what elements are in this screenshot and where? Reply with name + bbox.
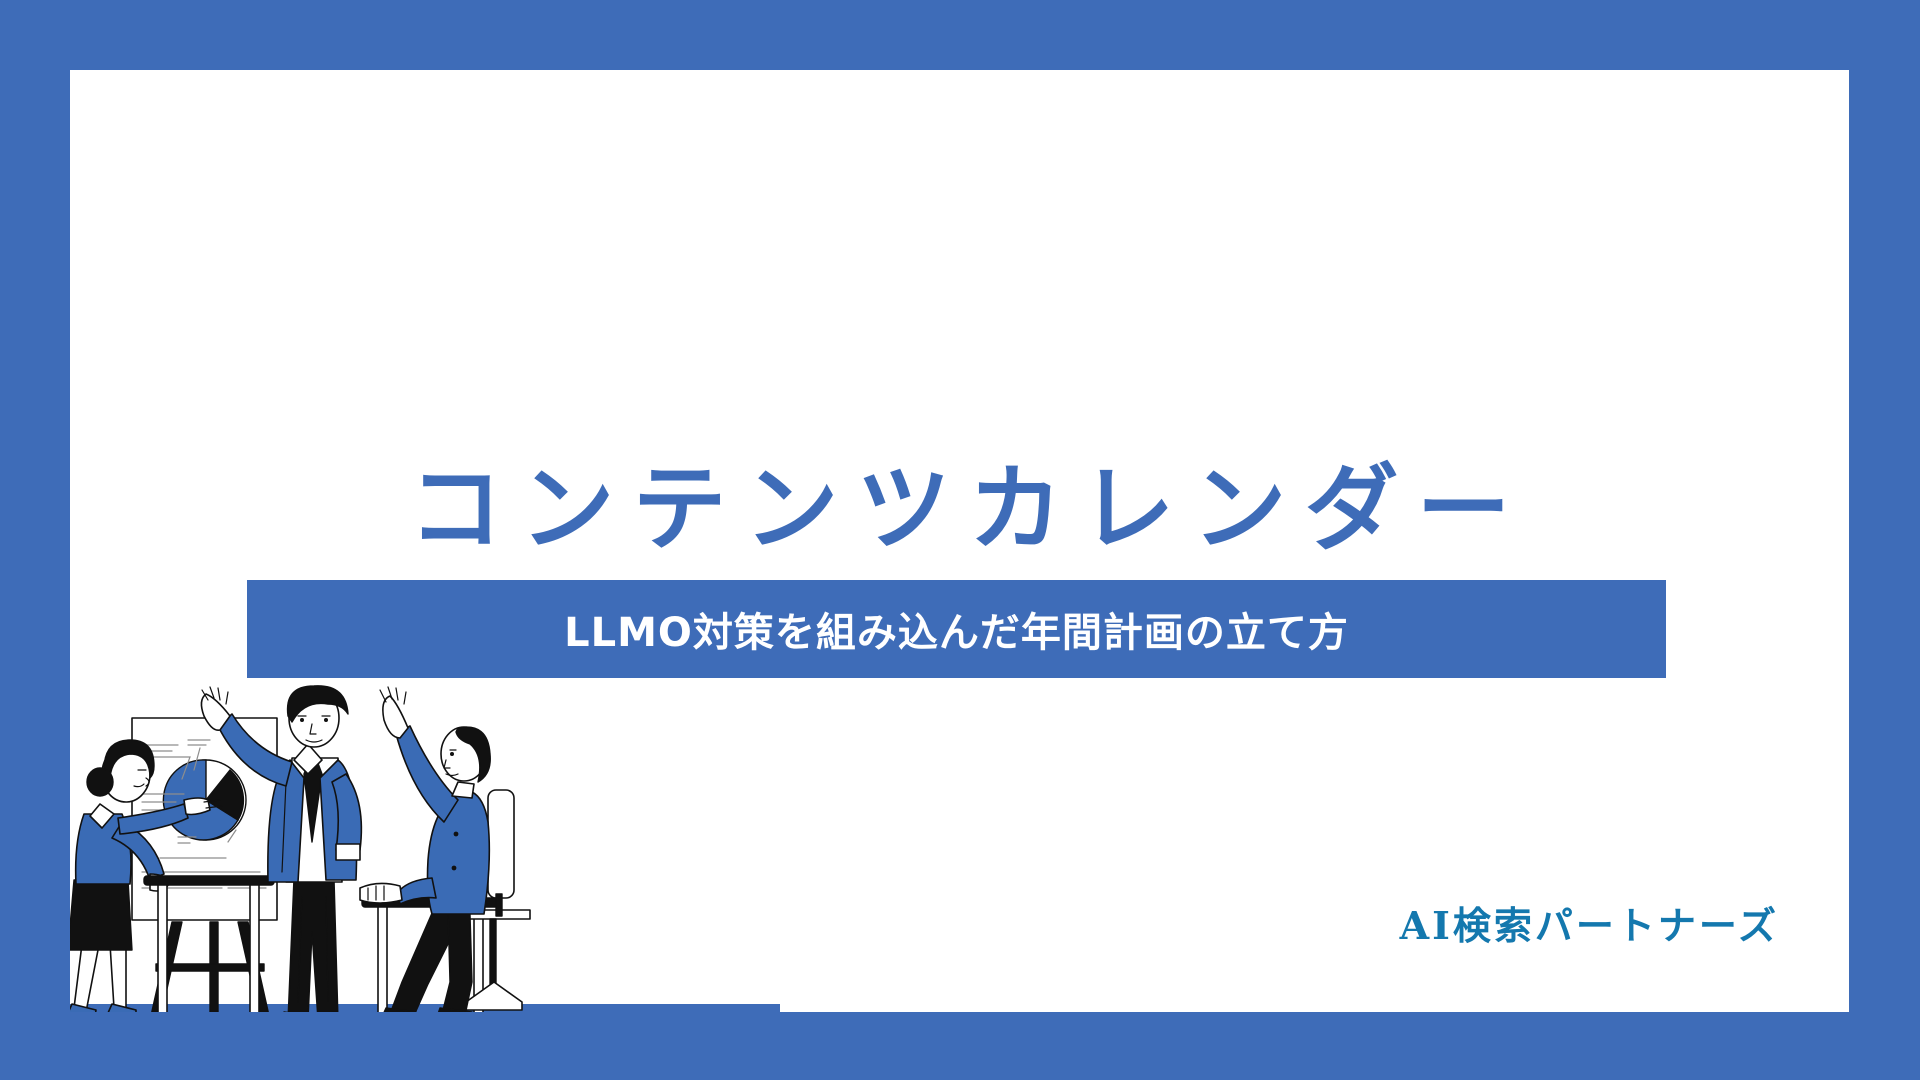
figure-seated-person	[360, 687, 530, 1012]
desk-right	[362, 898, 498, 1012]
flipchart-easel	[132, 718, 277, 1012]
page-title: コンテンツカレンダー	[70, 458, 1849, 561]
pie-slice-black	[206, 770, 243, 820]
figure-man-standing	[201, 686, 366, 1012]
illustration-business-team: .ln { fill:none; stroke:#111; stroke-wid…	[70, 682, 780, 1012]
pie-slice-blue	[163, 760, 238, 840]
subtitle-text: LLMO対策を組み込んだ年間計画の立て方	[564, 600, 1349, 658]
slide-white-panel: コンテンツカレンダー LLMO対策を組み込んだ年間計画の立て方 AI検索パートナ…	[70, 70, 1849, 1012]
brand-credit: AI検索パートナーズ	[1400, 895, 1779, 950]
figure-woman-pointing	[70, 740, 222, 1012]
floor-band	[70, 1004, 780, 1012]
slide-canvas: コンテンツカレンダー LLMO対策を組み込んだ年間計画の立て方 AI検索パートナ…	[0, 0, 1920, 1080]
pie-chart	[163, 760, 246, 840]
flipchart-sheet	[132, 718, 277, 920]
subtitle-band: LLMO対策を組み込んだ年間計画の立て方	[247, 580, 1666, 678]
desk-left	[144, 876, 274, 1012]
